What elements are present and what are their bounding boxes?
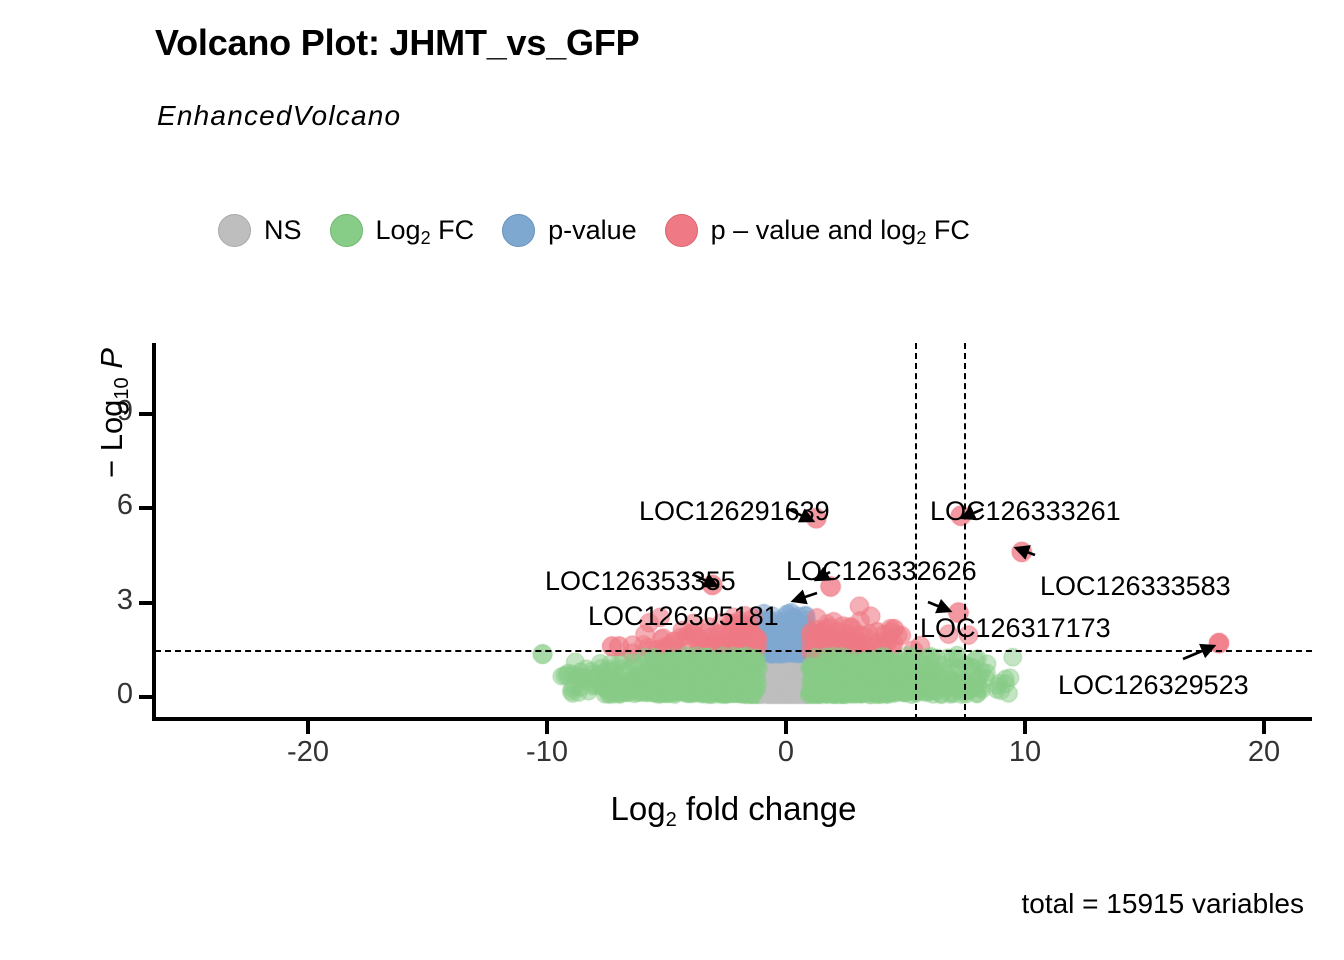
y-tick-3 — [139, 601, 152, 605]
legend-item-ns[interactable]: NS — [218, 214, 302, 247]
total-variables-caption: total = 15915 variables — [1021, 888, 1304, 920]
gene-label: LOC126305181 — [588, 603, 779, 630]
legend-dot-ns — [218, 214, 251, 247]
legend-item-log2fc[interactable]: Log2 FC — [330, 214, 475, 247]
threshold-line-log2fc-negative — [915, 343, 917, 720]
gene-label: LOC126317173 — [920, 615, 1111, 642]
scatter-point-cloud — [155, 343, 1312, 720]
legend-dot-pvalue — [502, 214, 535, 247]
x-tick-label-neg20: -20 — [287, 738, 329, 767]
legend-dot-log2fc — [330, 214, 363, 247]
x-tick-label-neg10: -10 — [526, 738, 568, 767]
y-tick-6 — [139, 506, 152, 510]
y-tick-0 — [139, 695, 152, 699]
y-tick-9 — [139, 412, 152, 416]
y-tick-label-0: 0 — [117, 680, 133, 709]
gene-label: LOC126333261 — [930, 498, 1121, 525]
x-tick-label-0: 0 — [778, 738, 794, 767]
x-tick-neg20 — [306, 721, 310, 734]
x-tick-20 — [1262, 721, 1266, 734]
legend-label-pvalue: p-value — [548, 217, 637, 244]
legend-label-pvalue-and-log2fc: p – value and log2 FC — [711, 217, 970, 244]
legend-dot-pvalue-and-log2fc — [665, 214, 698, 247]
legend-label-ns: NS — [264, 217, 302, 244]
x-tick-label-20: 20 — [1248, 738, 1280, 767]
legend-item-pvalue[interactable]: p-value — [502, 214, 637, 247]
volcano-plot-figure: Volcano Plot: JHMT_vs_GFP EnhancedVolcan… — [0, 0, 1344, 960]
legend: NS Log2 FC p-value p – value and log2 FC — [218, 200, 998, 260]
y-tick-label-3: 3 — [117, 586, 133, 615]
threshold-line-pvalue — [155, 650, 1312, 652]
gene-label: LOC126353355 — [545, 568, 736, 595]
threshold-line-log2fc-positive — [964, 343, 966, 720]
plot-subtitle: EnhancedVolcano — [157, 100, 401, 132]
legend-item-pvalue-and-log2fc[interactable]: p – value and log2 FC — [665, 214, 970, 247]
x-tick-neg10 — [545, 721, 549, 734]
legend-label-log2fc: Log2 FC — [376, 217, 475, 244]
x-tick-label-10: 10 — [1009, 738, 1041, 767]
gene-label: LOC126291639 — [639, 498, 830, 525]
gene-label: LOC126332626 — [786, 558, 977, 585]
page-title: Volcano Plot: JHMT_vs_GFP — [155, 22, 639, 64]
y-axis-title: − Log10 P — [94, 263, 130, 563]
gene-label: LOC126329523 — [1058, 672, 1249, 699]
gene-label: LOC126333583 — [1040, 573, 1231, 600]
x-tick-10 — [1023, 721, 1027, 734]
x-tick-0 — [784, 721, 788, 734]
x-axis-title: Log2 fold change — [155, 790, 1312, 828]
plot-panel — [155, 343, 1312, 720]
